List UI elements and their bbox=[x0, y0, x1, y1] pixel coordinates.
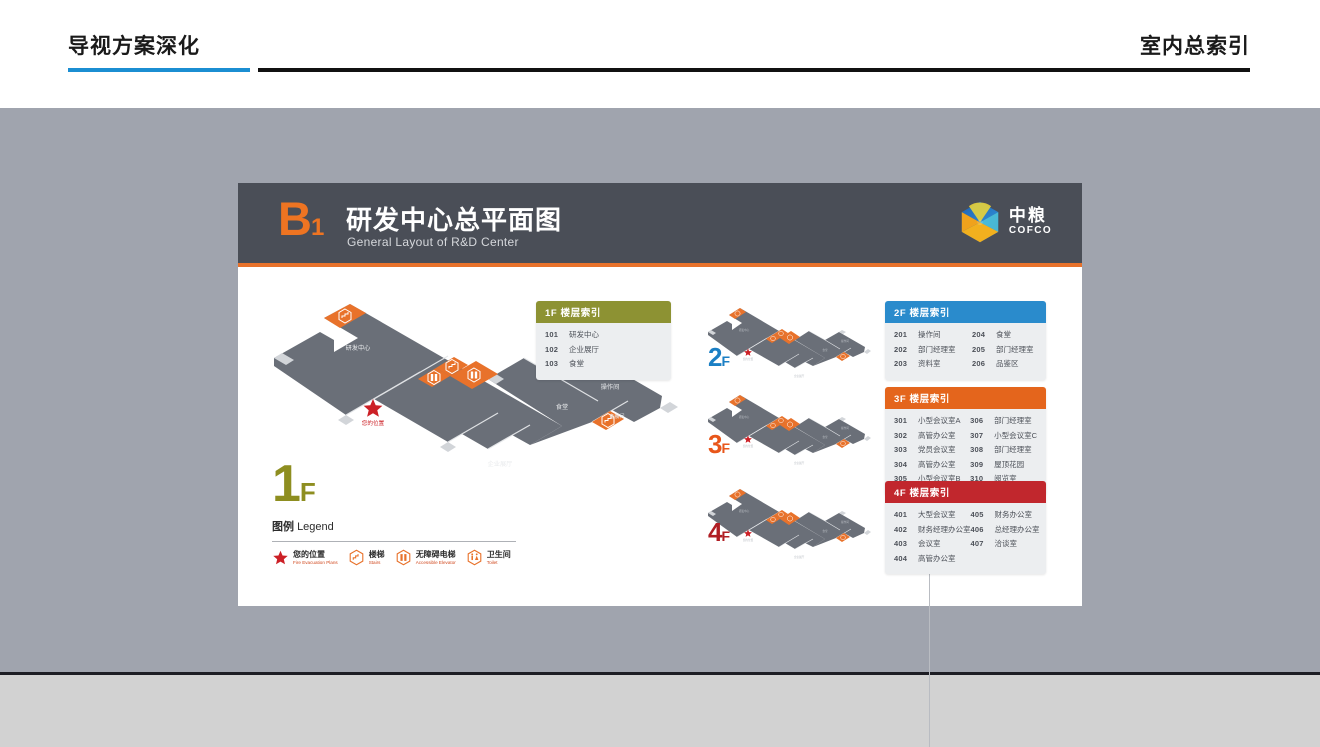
floor-index-row[interactable]: 303党员会议室 bbox=[894, 444, 970, 455]
room-code: 304 bbox=[894, 460, 918, 469]
floor-index-1f[interactable]: 1F 楼层索引101研发中心102企业展厅103食堂 bbox=[536, 301, 671, 380]
floor-number-suffix: F bbox=[721, 528, 729, 544]
floor-index-4f[interactable]: 4F 楼层索引401大型会议室402财务经理办公室403会议室404高管办公室4… bbox=[885, 481, 1046, 574]
board-code-number: 1 bbox=[311, 214, 323, 241]
room-code: 403 bbox=[894, 539, 918, 548]
legend-item-toilet: 卫生间 Toilet bbox=[466, 549, 511, 566]
star-icon bbox=[272, 549, 289, 566]
board-title-en: General Layout of R&D Center bbox=[347, 235, 519, 249]
floor-number-3f: 3F bbox=[708, 431, 729, 461]
floor-index-row[interactable]: 304高管办公室 bbox=[894, 459, 970, 470]
floor-index-row[interactable]: 301小型会议室A bbox=[894, 415, 970, 426]
room-code: 202 bbox=[894, 345, 918, 354]
floor-index-row[interactable]: 405财务办公室 bbox=[971, 509, 1040, 520]
floor-index-column: 101研发中心102企业展厅103食堂 bbox=[545, 329, 599, 373]
floor-index-row[interactable]: 401大型会议室 bbox=[894, 509, 971, 520]
room-name: 部门经理室 bbox=[918, 344, 956, 355]
floor-index-3f[interactable]: 3F 楼层索引301小型会议室A302高管办公室303党员会议室304高管办公室… bbox=[885, 387, 1046, 495]
room-code: 303 bbox=[894, 445, 918, 454]
room-name: 企业展厅 bbox=[569, 344, 599, 355]
legend-text: 您的位置 Fire Evacuation Plans bbox=[293, 550, 338, 566]
floor-index-row[interactable]: 201操作间 bbox=[894, 329, 972, 340]
floor-number-suffix: F bbox=[721, 353, 729, 369]
room-label: 食堂 bbox=[556, 403, 568, 411]
page-title: 导视方案深化 bbox=[68, 30, 200, 60]
floor-index-row[interactable]: 307小型会议室C bbox=[970, 430, 1037, 441]
room-name: 操作间 bbox=[918, 329, 941, 340]
room-code: 206 bbox=[972, 359, 996, 368]
legend-text: 无障碍电梯 Accessible Elevator bbox=[416, 550, 456, 566]
floor-index-row[interactable]: 205部门经理室 bbox=[972, 344, 1034, 355]
header-accent-rule bbox=[68, 68, 250, 72]
floor-index-body: 201操作间202部门经理室203资料室204食堂205部门经理室206品鉴区 bbox=[885, 323, 1046, 380]
floor-index-row[interactable]: 308部门经理室 bbox=[970, 444, 1037, 455]
board-code-letter: B bbox=[278, 192, 311, 245]
cofco-cube-icon bbox=[960, 201, 1000, 243]
floor-number-value: 3 bbox=[708, 429, 721, 459]
floor-number-4f: 4F bbox=[708, 519, 729, 549]
room-name: 洽谈室 bbox=[995, 538, 1018, 549]
room-name: 高管办公室 bbox=[918, 430, 956, 441]
room-name: 总经理办公室 bbox=[995, 524, 1040, 535]
room-name: 小型会议室C bbox=[994, 430, 1037, 441]
room-name: 部门经理室 bbox=[996, 344, 1034, 355]
legend-text: 卫生间 Toilet bbox=[487, 550, 511, 566]
room-code: 309 bbox=[970, 460, 994, 469]
room-code: 405 bbox=[971, 510, 995, 519]
board-code: B1 bbox=[278, 195, 323, 251]
room-code: 205 bbox=[972, 345, 996, 354]
legend-label-en: Accessible Elevator bbox=[416, 559, 456, 566]
floor-number-1f: 1F bbox=[272, 458, 315, 518]
room-code: 204 bbox=[972, 330, 996, 339]
legend-label-cn: 您的位置 bbox=[293, 550, 338, 559]
stairs-icon bbox=[348, 549, 365, 566]
floor-index-header: 2F 楼层索引 bbox=[885, 301, 1046, 323]
legend-label-en: Fire Evacuation Plans bbox=[293, 559, 338, 566]
floor-index-body: 401大型会议室402财务经理办公室403会议室404高管办公室405财务办公室… bbox=[885, 503, 1046, 574]
page-header: 导视方案深化 室内总索引 bbox=[0, 0, 1320, 108]
floor-index-header: 1F 楼层索引 bbox=[536, 301, 671, 323]
room-code: 203 bbox=[894, 359, 918, 368]
floor-index-row[interactable]: 203资料室 bbox=[894, 358, 972, 369]
floor-number-value: 4 bbox=[708, 517, 721, 547]
floor-index-row[interactable]: 309屋顶花园 bbox=[970, 459, 1037, 470]
legend-label-cn: 卫生间 bbox=[487, 550, 511, 559]
you-are-here-label: 您的位置 bbox=[362, 419, 385, 427]
room-name: 党员会议室 bbox=[918, 444, 956, 455]
room-name: 研发中心 bbox=[569, 329, 599, 340]
floor-number-value: 2 bbox=[708, 342, 721, 372]
legend-text: 楼梯 Stairs bbox=[369, 550, 385, 566]
room-name: 品鉴区 bbox=[996, 358, 1019, 369]
room-name: 屋顶花园 bbox=[994, 459, 1024, 470]
room-name: 高管办公室 bbox=[918, 553, 956, 564]
room-name: 食堂 bbox=[996, 329, 1011, 340]
floor-number-suffix: F bbox=[300, 477, 315, 507]
cofco-name-en: COFCO bbox=[1009, 225, 1052, 237]
legend-title-cn: 图例 bbox=[272, 521, 294, 533]
floor-index-row[interactable]: 103食堂 bbox=[545, 358, 599, 369]
room-code: 307 bbox=[970, 431, 994, 440]
floor-index-row[interactable]: 402财务经理办公室 bbox=[894, 524, 971, 535]
legend-item-stairs: 楼梯 Stairs bbox=[348, 549, 385, 566]
floor-index-row[interactable]: 202部门经理室 bbox=[894, 344, 972, 355]
room-code: 406 bbox=[971, 525, 995, 534]
room-code: 201 bbox=[894, 330, 918, 339]
legend-label-cn: 无障碍电梯 bbox=[416, 550, 456, 559]
room-label: 企业展厅 bbox=[488, 460, 513, 468]
room-code: 402 bbox=[894, 525, 918, 534]
room-name: 会议室 bbox=[918, 538, 941, 549]
room-name: 财务办公室 bbox=[995, 509, 1033, 520]
floor-index-header: 3F 楼层索引 bbox=[885, 387, 1046, 409]
toilet-icon bbox=[466, 549, 483, 566]
floor-index-column: 204食堂205部门经理室206品鉴区 bbox=[972, 329, 1034, 373]
legend-title-en: Legend bbox=[297, 521, 334, 533]
floor-number-suffix: F bbox=[721, 440, 729, 456]
legend-item-you-are-here: 您的位置 Fire Evacuation Plans bbox=[272, 549, 338, 566]
room-code: 407 bbox=[971, 539, 995, 548]
floor-number-2f: 2F bbox=[708, 344, 729, 374]
floor-index-row[interactable]: 404高管办公室 bbox=[894, 553, 971, 564]
room-code: 404 bbox=[894, 554, 918, 563]
page-section-title: 室内总索引 bbox=[1140, 30, 1250, 60]
floor-index-column: 201操作间202部门经理室203资料室 bbox=[894, 329, 972, 373]
legend-item-elevator: 无障碍电梯 Accessible Elevator bbox=[395, 549, 456, 566]
legend-label-en: Toilet bbox=[487, 559, 511, 566]
room-name: 资料室 bbox=[918, 358, 941, 369]
elevator-icon bbox=[395, 549, 412, 566]
board-title-cn: 研发中心总平面图 bbox=[346, 200, 562, 237]
room-name: 食堂 bbox=[569, 358, 584, 369]
room-code: 308 bbox=[970, 445, 994, 454]
floor-index-row[interactable]: 206品鉴区 bbox=[972, 358, 1034, 369]
board-header: B1 研发中心总平面图 General Layout of R&D Center bbox=[238, 183, 1082, 263]
floor-index-column: 301小型会议室A302高管办公室303党员会议室304高管办公室305小型会议… bbox=[894, 415, 970, 488]
cofco-name-cn: 中粮 bbox=[1009, 207, 1052, 225]
room-code: 103 bbox=[545, 359, 569, 368]
legend-items: 您的位置 Fire Evacuation Plans 楼梯 Stairs bbox=[272, 549, 516, 566]
legend-divider bbox=[272, 541, 516, 542]
legend: 图例 Legend 您的位置 Fire Evacuation Plans bbox=[272, 518, 516, 566]
room-name: 财务经理办公室 bbox=[918, 524, 971, 535]
room-label: 备餐间 bbox=[609, 413, 624, 420]
header-rule bbox=[258, 68, 1250, 72]
room-name: 部门经理室 bbox=[994, 444, 1032, 455]
footer-strip bbox=[0, 675, 1320, 743]
room-label: 研发中心 bbox=[346, 344, 371, 352]
floor-index-row[interactable]: 204食堂 bbox=[972, 329, 1034, 340]
cofco-logo-text: 中粮 COFCO bbox=[1009, 207, 1052, 237]
board-accent-rule bbox=[238, 263, 1082, 267]
room-name: 大型会议室 bbox=[918, 509, 956, 520]
floor-index-column: 401大型会议室402财务经理办公室403会议室404高管办公室 bbox=[894, 509, 971, 567]
floor-index-2f[interactable]: 2F 楼层索引201操作间202部门经理室203资料室204食堂205部门经理室… bbox=[885, 301, 1046, 380]
room-name: 高管办公室 bbox=[918, 459, 956, 470]
room-code: 302 bbox=[894, 431, 918, 440]
floor-index-row[interactable]: 306部门经理室 bbox=[970, 415, 1037, 426]
room-code: 301 bbox=[894, 416, 918, 425]
floor-index-row[interactable]: 403会议室 bbox=[894, 538, 971, 549]
floor-index-row[interactable]: 302高管办公室 bbox=[894, 430, 970, 441]
floor-index-header: 4F 楼层索引 bbox=[885, 481, 1046, 503]
legend-label-en: Stairs bbox=[369, 559, 385, 566]
room-name: 部门经理室 bbox=[994, 415, 1032, 426]
page-root: 导视方案深化 室内总索引 B1 研发中心总平面图 General Layout … bbox=[0, 0, 1320, 743]
floor-index-column: 306部门经理室307小型会议室C308部门经理室309屋顶花园310阅览室 bbox=[970, 415, 1037, 488]
floor-index-row[interactable]: 101研发中心 bbox=[545, 329, 599, 340]
floor-index-column: 405财务办公室406总经理办公室407洽谈室 bbox=[971, 509, 1040, 567]
floor-index-row[interactable]: 407洽谈室 bbox=[971, 538, 1040, 549]
room-code: 102 bbox=[545, 345, 569, 354]
floor-index-row[interactable]: 406总经理办公室 bbox=[971, 524, 1040, 535]
floor-number-value: 1 bbox=[272, 455, 300, 513]
room-code: 401 bbox=[894, 510, 918, 519]
legend-label-cn: 楼梯 bbox=[369, 550, 385, 559]
floor-index-body: 101研发中心102企业展厅103食堂 bbox=[536, 323, 671, 380]
legend-title: 图例 Legend bbox=[272, 518, 516, 534]
room-code: 306 bbox=[970, 416, 994, 425]
room-code: 101 bbox=[545, 330, 569, 339]
room-name: 小型会议室A bbox=[918, 415, 961, 426]
floor-index-row[interactable]: 102企业展厅 bbox=[545, 344, 599, 355]
room-label: 操作间 bbox=[601, 383, 620, 391]
cofco-logo: 中粮 COFCO bbox=[960, 201, 1052, 243]
